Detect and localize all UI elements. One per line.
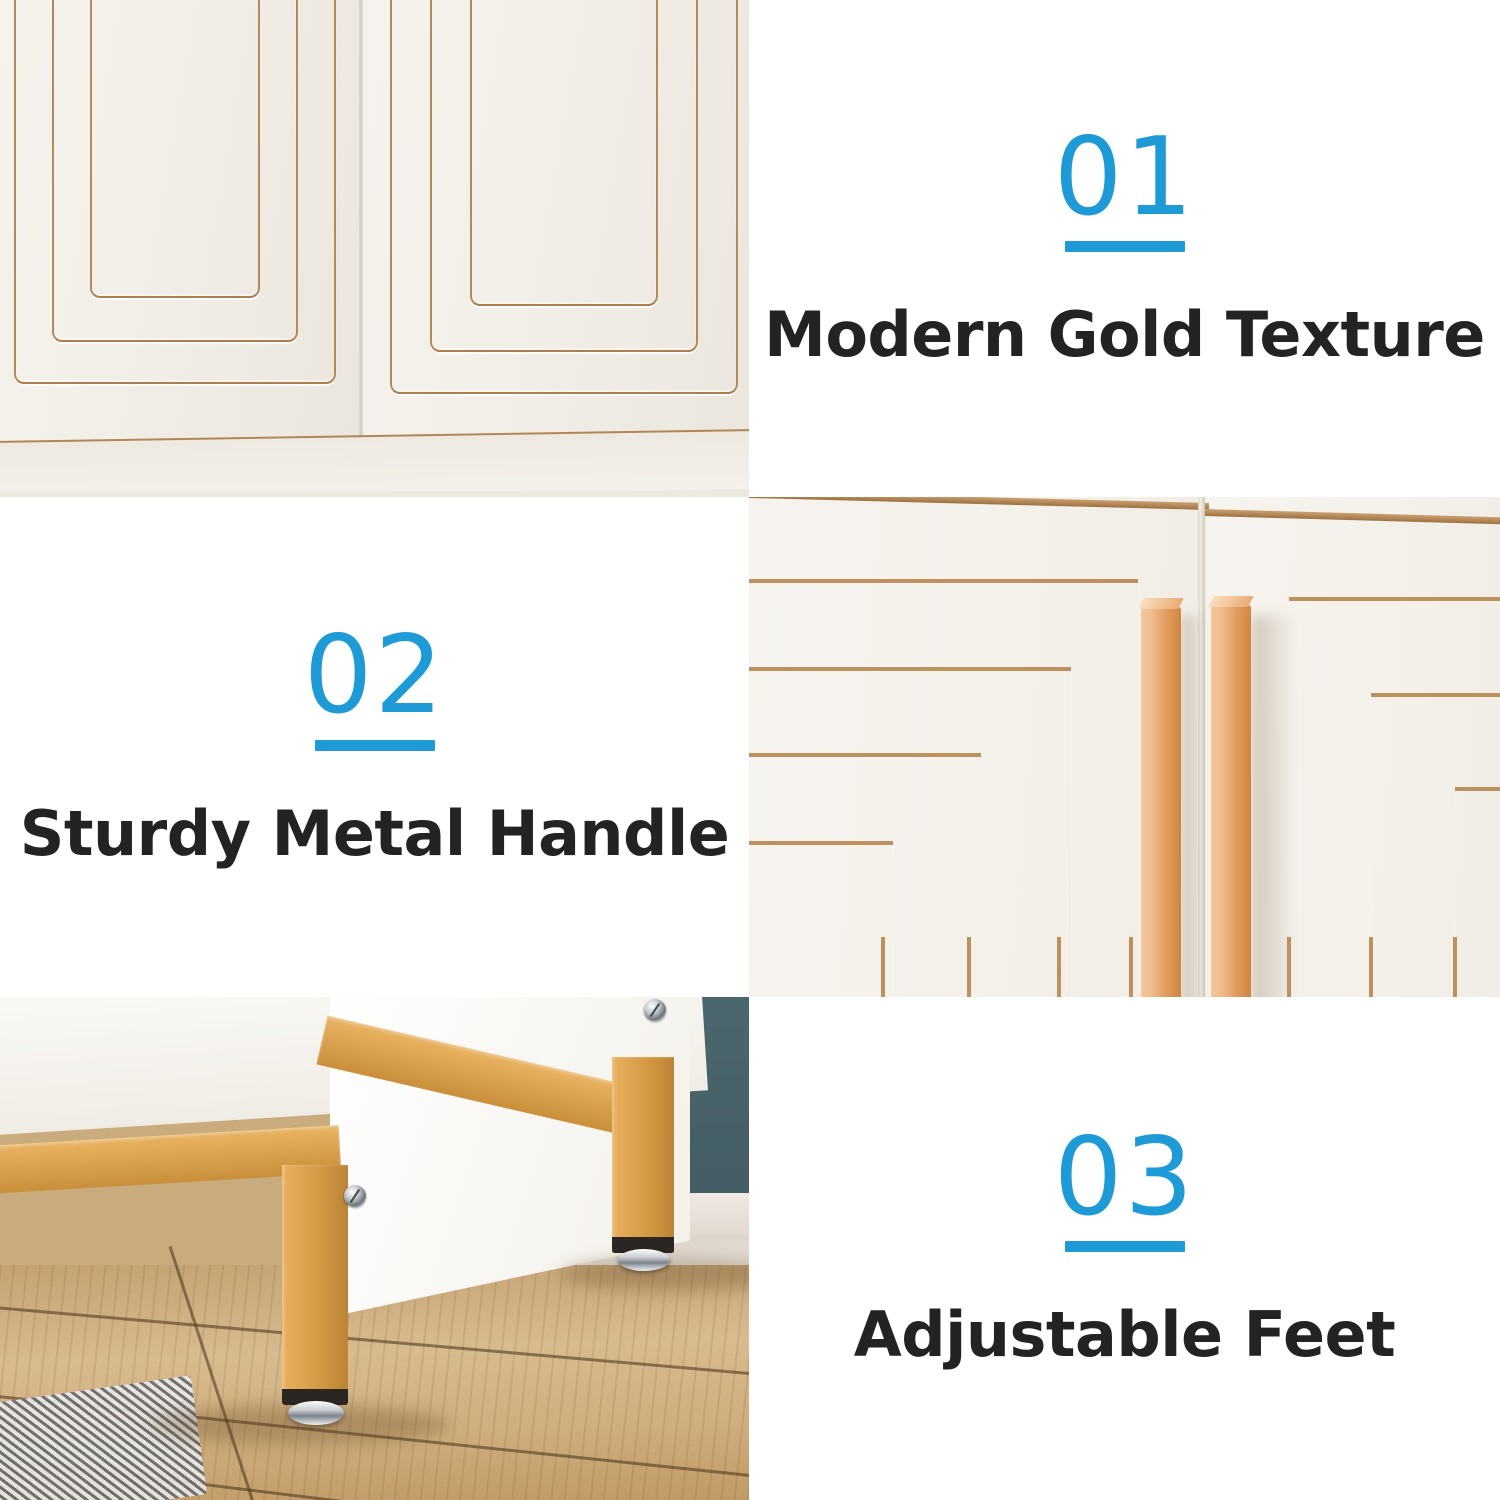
floor-rug [0,1375,207,1500]
adjustable-feet-photo [0,997,749,1500]
cabinet-leg-front [282,1165,348,1405]
door-bottom-edge [0,429,749,497]
feature-number-underline [1065,241,1185,252]
feature-number-03: 03 [1054,1126,1195,1253]
feature-caption-02: Sturdy Metal Handle [20,797,730,870]
handle-groove-stub [967,937,971,997]
adjustable-foot-back[interactable] [618,1249,670,1271]
feature-caption-03: Adjustable Feet [854,1298,1395,1371]
feature-block-01: 01 Modern Gold Texture [749,0,1500,497]
handle-groove-stub [1287,937,1291,997]
handle-bar-top-bevel [1138,598,1184,609]
handle-bar-face [1211,605,1251,997]
handle-bar-right[interactable] [1211,605,1251,997]
door-gap-seam [359,0,363,497]
feature-number-02: 02 [304,624,445,751]
feature-number-text: 03 [1054,1126,1195,1230]
handle-door-groove-4 [749,841,893,997]
feature-caption-01: Modern Gold Texture [764,298,1485,371]
feature-infographic: 01 Modern Gold Texture 02 Sturdy Metal H… [0,0,1500,1500]
feature-number-underline [1065,1241,1185,1252]
handle-groove-stub [881,937,885,997]
handle-bar-left[interactable] [1141,607,1181,997]
handle-bar-face [1141,607,1181,997]
handle-shadow-left [1181,615,1207,997]
door-groove-inner [470,0,658,306]
feature-number-01: 01 [1054,126,1195,253]
door-groove-inner [90,0,260,298]
handle-groove-stub [1453,937,1457,997]
feature-number-text: 01 [1054,126,1195,230]
floor-plank-seam [0,1303,749,1379]
handle-bar-top-bevel [1208,596,1254,607]
leg-screw-front [344,1185,366,1207]
handle-groove-stub [1057,937,1061,997]
feature-block-02: 02 Sturdy Metal Handle [0,497,749,997]
cabinet-leg-back [612,1057,674,1253]
cabinet-doors-gold-groove-photo [0,0,749,497]
adjustable-foot-front[interactable] [288,1401,344,1425]
feature-number-underline [315,740,435,751]
feature-number-text: 02 [304,624,445,728]
leg-screw-back [644,999,666,1021]
cabinet-door-right [368,0,749,497]
cabinet-door-left [0,0,360,497]
gold-bar-handle-photo [749,497,1500,997]
handle-groove-stub [1129,937,1133,997]
handle-door-right-groove-3 [1455,787,1500,997]
feature-block-03: 03 Adjustable Feet [749,997,1500,1500]
handle-groove-stub [1369,937,1373,997]
